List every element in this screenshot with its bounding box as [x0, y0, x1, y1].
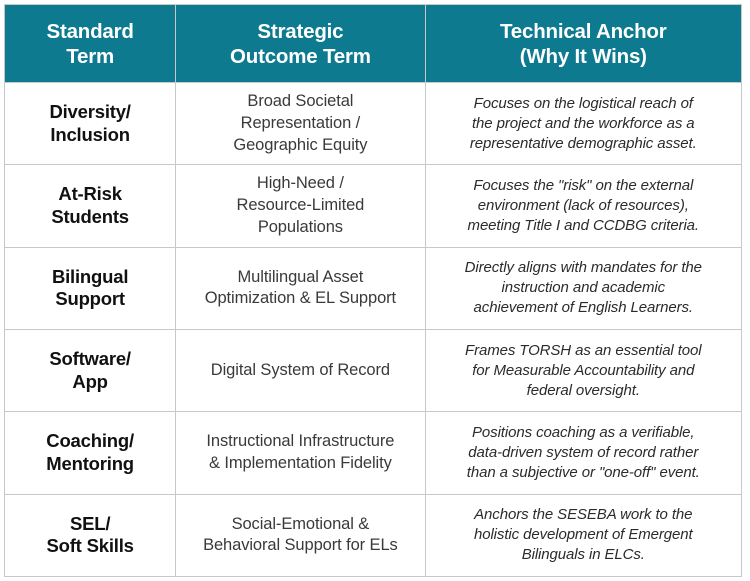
- table-row: Software/ App Digital System of Record F…: [5, 329, 742, 411]
- anchor-line-2: environment (lack of resources),: [438, 196, 729, 216]
- anchor-line-2: holistic development of Emergent: [438, 525, 729, 545]
- standard-line-2: Students: [11, 206, 169, 229]
- standard-line-2: Mentoring: [11, 453, 169, 476]
- anchor-line-1: Anchors the SESEBA work to the: [438, 505, 729, 525]
- anchor-line-3: meeting Title I and CCDBG criteria.: [438, 216, 729, 236]
- cell-technical-anchor: Focuses the "risk" on the external envir…: [425, 165, 741, 247]
- header-line-1: Strategic: [184, 19, 416, 44]
- cell-technical-anchor: Frames TORSH as an essential tool for Me…: [425, 329, 741, 411]
- header-line-2: (Why It Wins): [434, 44, 733, 69]
- header-line-2: Term: [13, 44, 167, 69]
- standard-line-1: SEL/: [11, 513, 169, 536]
- strategic-line-2: Optimization & EL Support: [186, 288, 414, 310]
- standard-line-1: Software/: [11, 348, 169, 371]
- cell-technical-anchor: Focuses on the logistical reach of the p…: [425, 83, 741, 165]
- strategic-line-2: Resource-Limited: [186, 195, 414, 217]
- strategic-line-3: Geographic Equity: [186, 135, 414, 157]
- anchor-line-3: achievement of English Learners.: [438, 298, 729, 318]
- cell-strategic-term: Instructional Infrastructure & Implement…: [176, 412, 425, 494]
- cell-standard-term: Software/ App: [5, 329, 176, 411]
- cell-technical-anchor: Directly aligns with mandates for the in…: [425, 247, 741, 329]
- standard-line-1: At-Risk: [11, 183, 169, 206]
- standard-line-2: Support: [11, 288, 169, 311]
- cell-strategic-term: Social-Emotional & Behavioral Support fo…: [176, 494, 425, 576]
- strategic-line-1: High-Need /: [186, 173, 414, 195]
- standard-line-1: Coaching/: [11, 430, 169, 453]
- strategic-line-1: Social-Emotional &: [186, 514, 414, 536]
- column-header-strategic-outcome-term: Strategic Outcome Term: [176, 5, 425, 83]
- strategic-line-1: Digital System of Record: [186, 360, 414, 382]
- cell-standard-term: Coaching/ Mentoring: [5, 412, 176, 494]
- strategic-line-2: Behavioral Support for ELs: [186, 535, 414, 557]
- cell-strategic-term: Digital System of Record: [176, 329, 425, 411]
- standard-line-2: Soft Skills: [11, 535, 169, 558]
- anchor-line-2: instruction and academic: [438, 278, 729, 298]
- anchor-line-2: data-driven system of record rather: [438, 443, 729, 463]
- column-header-technical-anchor: Technical Anchor (Why It Wins): [425, 5, 741, 83]
- table-header: Standard Term Strategic Outcome Term Tec…: [5, 5, 742, 83]
- anchor-line-2: for Measurable Accountability and: [438, 361, 729, 381]
- cell-strategic-term: Broad Societal Representation / Geograph…: [176, 83, 425, 165]
- anchor-line-3: than a subjective or "one-off" event.: [438, 463, 729, 483]
- cell-strategic-term: Multilingual Asset Optimization & EL Sup…: [176, 247, 425, 329]
- standard-line-2: App: [11, 371, 169, 394]
- strategic-line-3: Populations: [186, 217, 414, 239]
- strategic-line-2: Representation /: [186, 113, 414, 135]
- standard-line-1: Diversity/: [11, 101, 169, 124]
- cell-standard-term: Bilingual Support: [5, 247, 176, 329]
- cell-technical-anchor: Positions coaching as a verifiable, data…: [425, 412, 741, 494]
- cell-strategic-term: High-Need / Resource-Limited Populations: [176, 165, 425, 247]
- strategic-line-1: Broad Societal: [186, 91, 414, 113]
- table-row: Coaching/ Mentoring Instructional Infras…: [5, 412, 742, 494]
- anchor-line-3: Bilinguals in ELCs.: [438, 545, 729, 565]
- anchor-line-2: the project and the workforce as a: [438, 114, 729, 134]
- standard-line-2: Inclusion: [11, 124, 169, 147]
- cell-technical-anchor: Anchors the SESEBA work to the holistic …: [425, 494, 741, 576]
- anchor-line-1: Frames TORSH as an essential tool: [438, 341, 729, 361]
- table-row: At-Risk Students High-Need / Resource-Li…: [5, 165, 742, 247]
- anchor-line-1: Directly aligns with mandates for the: [438, 258, 729, 278]
- anchor-line-1: Focuses on the logistical reach of: [438, 94, 729, 114]
- anchor-line-1: Focuses the "risk" on the external: [438, 176, 729, 196]
- table-row: Bilingual Support Multilingual Asset Opt…: [5, 247, 742, 329]
- terminology-table: Standard Term Strategic Outcome Term Tec…: [4, 4, 742, 577]
- strategic-line-1: Multilingual Asset: [186, 267, 414, 289]
- column-header-standard-term: Standard Term: [5, 5, 176, 83]
- terminology-table-container: Standard Term Strategic Outcome Term Tec…: [4, 4, 742, 577]
- header-line-1: Standard: [13, 19, 167, 44]
- table-row: Diversity/ Inclusion Broad Societal Repr…: [5, 83, 742, 165]
- cell-standard-term: Diversity/ Inclusion: [5, 83, 176, 165]
- cell-standard-term: SEL/ Soft Skills: [5, 494, 176, 576]
- header-line-2: Outcome Term: [184, 44, 416, 69]
- header-row: Standard Term Strategic Outcome Term Tec…: [5, 5, 742, 83]
- anchor-line-3: federal oversight.: [438, 381, 729, 401]
- anchor-line-3: representative demographic asset.: [438, 134, 729, 154]
- standard-line-1: Bilingual: [11, 266, 169, 289]
- table-body: Diversity/ Inclusion Broad Societal Repr…: [5, 83, 742, 577]
- cell-standard-term: At-Risk Students: [5, 165, 176, 247]
- strategic-line-2: & Implementation Fidelity: [186, 453, 414, 475]
- table-row: SEL/ Soft Skills Social-Emotional & Beha…: [5, 494, 742, 576]
- header-line-1: Technical Anchor: [434, 19, 733, 44]
- strategic-line-1: Instructional Infrastructure: [186, 431, 414, 453]
- anchor-line-1: Positions coaching as a verifiable,: [438, 423, 729, 443]
